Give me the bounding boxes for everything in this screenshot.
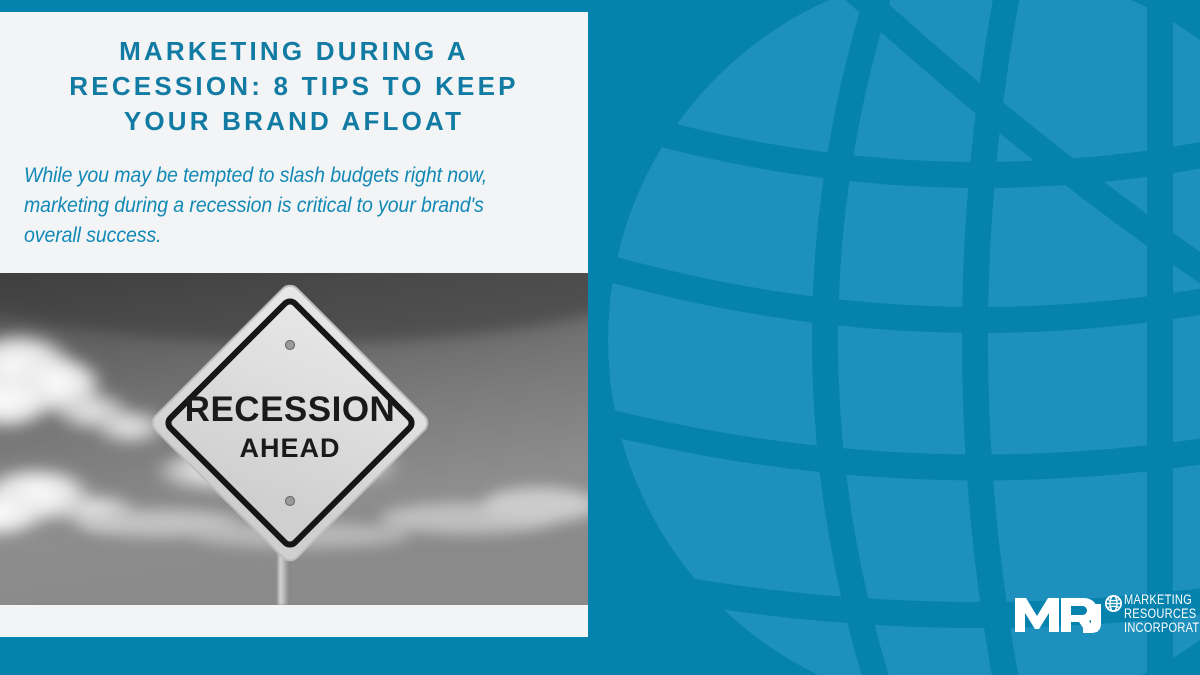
company-logo: Marketing Resources Incorporated <box>1013 592 1191 636</box>
sign-secondary-text: AHEAD <box>239 433 340 463</box>
globe-icon <box>1105 595 1122 612</box>
sign-primary-text: RECESSION <box>185 390 396 429</box>
company-name-line-2: Resources <box>1124 607 1181 621</box>
photo-artwork: RECESSION AHEAD <box>0 273 588 605</box>
recession-sign-photo: RECESSION AHEAD <box>0 273 588 605</box>
company-name-line-3: Incorporated <box>1124 621 1181 635</box>
card-text-block: MARKETING DURING A RECESSION: 8 TIPS TO … <box>0 12 588 273</box>
title-line-1: MARKETING DURING A <box>119 36 469 66</box>
title-line-2: RECESSION: 8 TIPS TO KEEP <box>69 71 518 101</box>
page-title: MARKETING DURING A RECESSION: 8 TIPS TO … <box>24 34 564 139</box>
globe-wireframe-graphic <box>600 0 1200 675</box>
title-line-3: YOUR BRAND AFLOAT <box>124 106 464 136</box>
slide-canvas: MARKETING DURING A RECESSION: 8 TIPS TO … <box>0 0 1200 675</box>
company-name-line-1: Marketing <box>1124 593 1181 607</box>
company-name: Marketing Resources Incorporated <box>1124 593 1181 635</box>
page-subtitle: While you may be tempted to slash budget… <box>24 161 526 251</box>
mri-wordmark-icon <box>1013 594 1105 634</box>
content-card: MARKETING DURING A RECESSION: 8 TIPS TO … <box>0 12 588 637</box>
